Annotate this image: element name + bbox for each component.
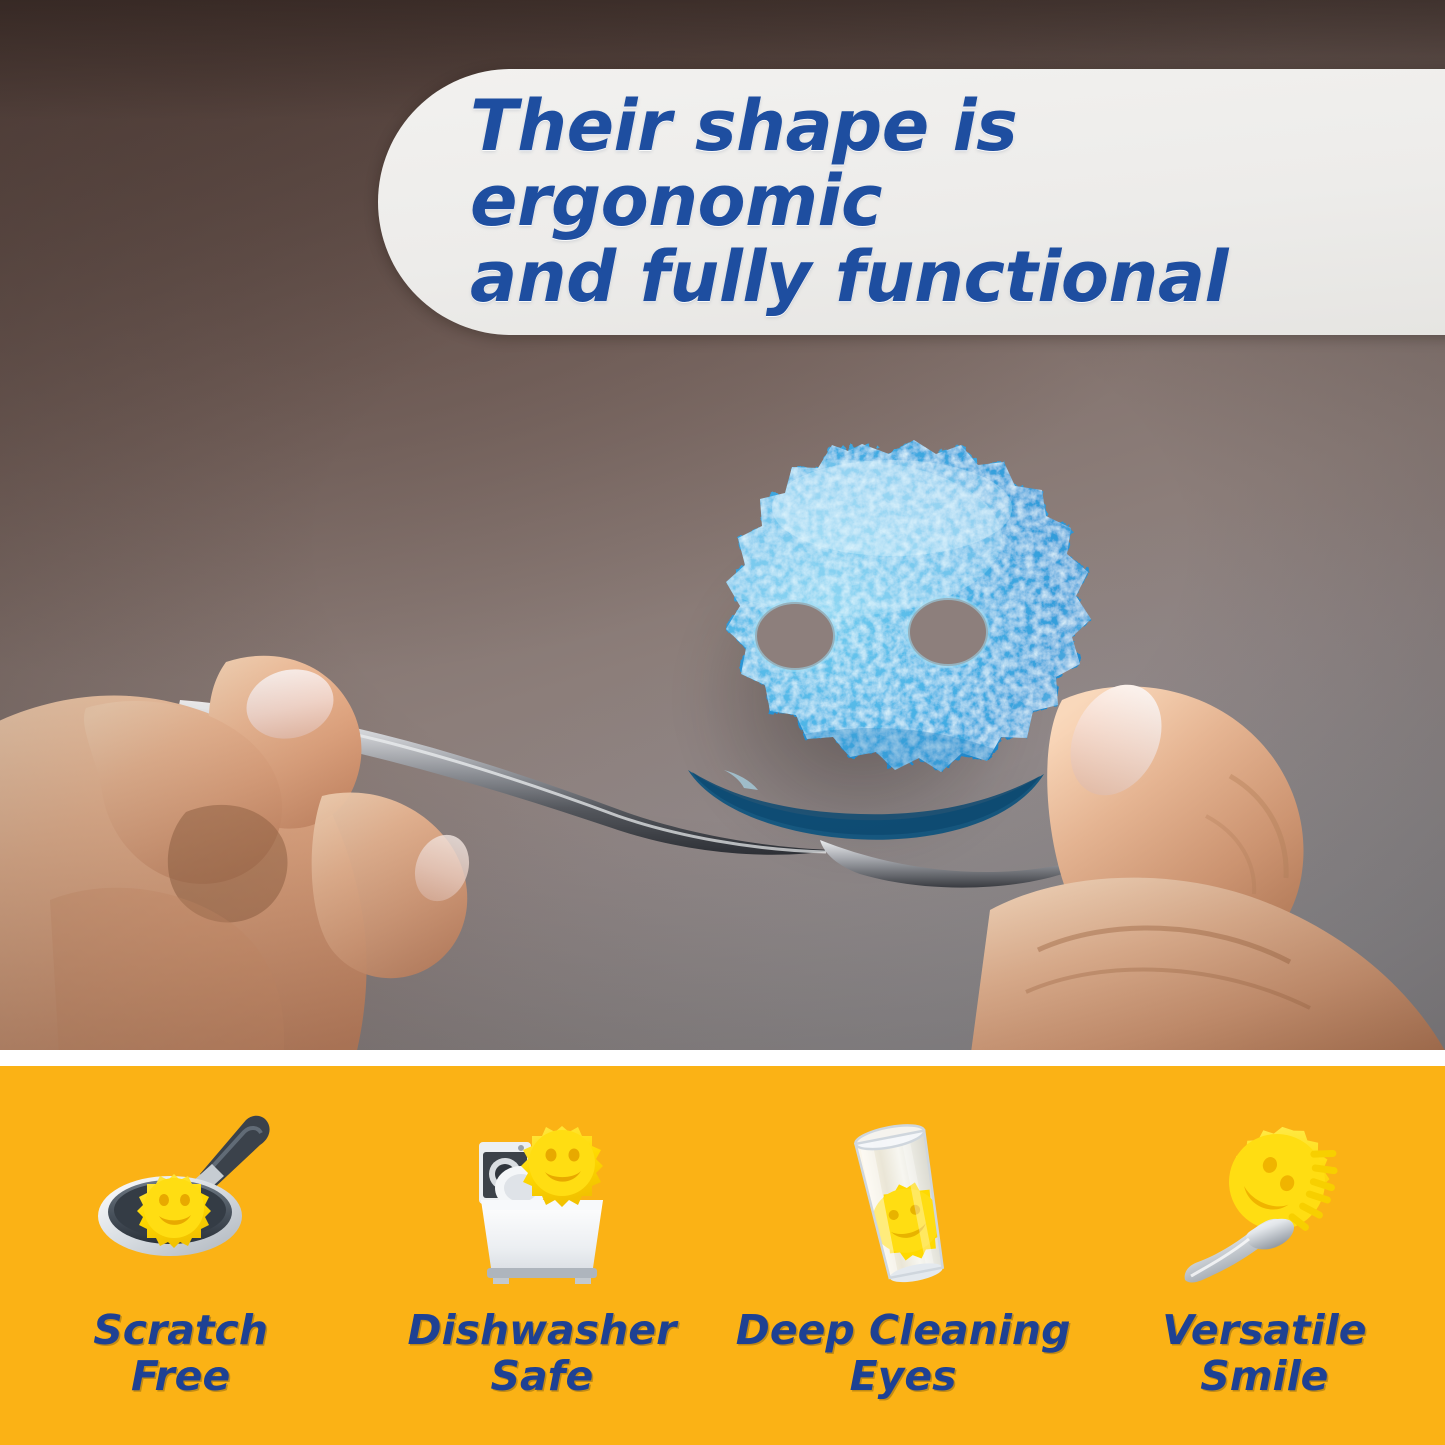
feature-label-versatile-smile: Versatile Smile: [1162, 1308, 1366, 1400]
feature-label-dishwasher-safe: Dishwasher Safe: [407, 1308, 676, 1400]
feature-scratch-free: Scratch Free: [0, 1066, 361, 1445]
sponge-in-frying-pan-icon: [88, 1112, 274, 1298]
feature-label-scratch-free: Scratch Free: [93, 1308, 268, 1400]
feature-label-deep-cleaning-eyes: Deep Cleaning Eyes: [736, 1308, 1071, 1400]
sponge-in-drinking-glass-icon: [810, 1112, 996, 1298]
sponge-with-spoon-icon: [1171, 1112, 1357, 1298]
feature-deep-cleaning-eyes: Deep Cleaning Eyes: [723, 1066, 1084, 1445]
feature-versatile-smile: Versatile Smile: [1084, 1066, 1445, 1445]
headline-banner: Their shape is ergonomic and fully funct…: [378, 69, 1445, 335]
sponge-in-dishwasher-icon: [449, 1112, 635, 1298]
feature-bar: Scratch Free: [0, 1066, 1445, 1445]
headline-text: Their shape is ergonomic and fully funct…: [470, 89, 1418, 316]
spoon-glyph: [1185, 1219, 1294, 1283]
product-infographic: Their shape is ergonomic and fully funct…: [0, 0, 1445, 1445]
feature-dishwasher-safe: Dishwasher Safe: [361, 1066, 722, 1445]
white-divider-strip: [0, 1050, 1445, 1066]
